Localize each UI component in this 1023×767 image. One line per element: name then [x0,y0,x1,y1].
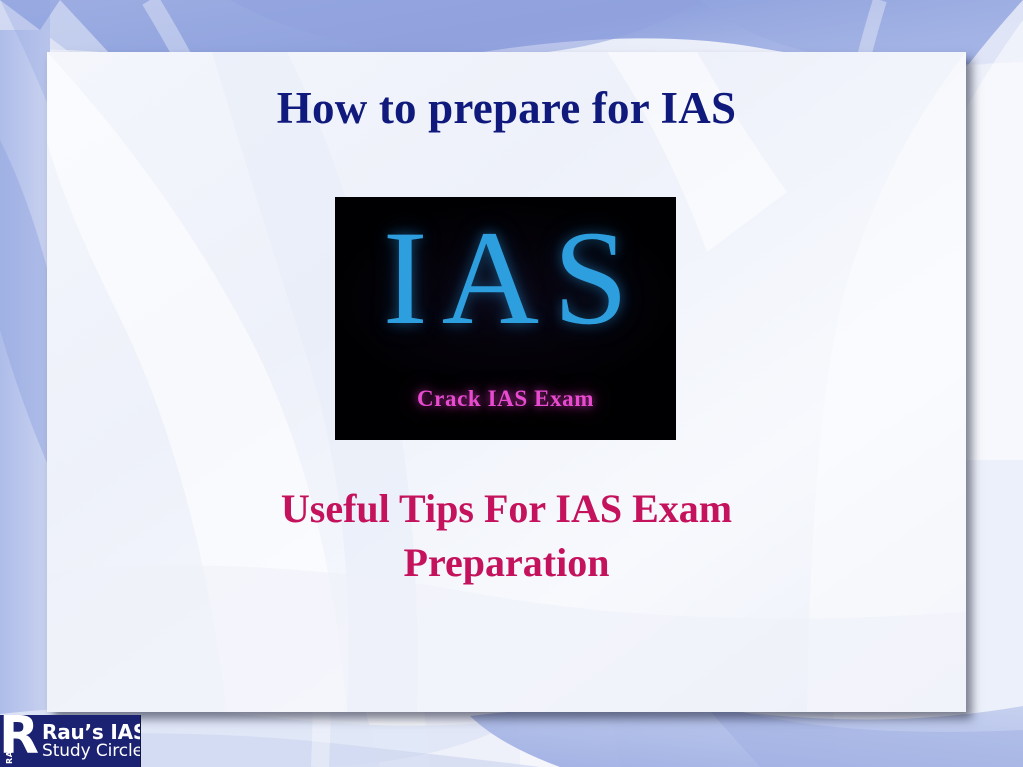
ias-banner-caption: Crack IAS Exam [335,386,676,412]
logo-line-primary: Rau’s IAS [42,722,141,742]
logo-wordmark: Rau’s IAS Study Circle [40,715,141,767]
logo-line-secondary: Study Circle [42,743,141,761]
logo-monogram-block: R RAU'S IAS [0,715,40,767]
ias-banner-headline: IAS [335,211,676,346]
slide-subtitle: Useful Tips For IAS Exam Preparation [107,482,906,590]
rau-ias-logo: R RAU'S IAS Rau’s IAS Study Circle [0,715,141,767]
presentation-slide: How to prepare for IAS IAS Crack IAS Exa… [0,0,1023,767]
slide-content-panel: How to prepare for IAS IAS Crack IAS Exa… [47,52,966,712]
logo-vertical-text: RAU'S IAS [5,720,14,764]
slide-title: How to prepare for IAS [47,85,966,132]
ias-banner-image: IAS Crack IAS Exam [335,197,676,440]
